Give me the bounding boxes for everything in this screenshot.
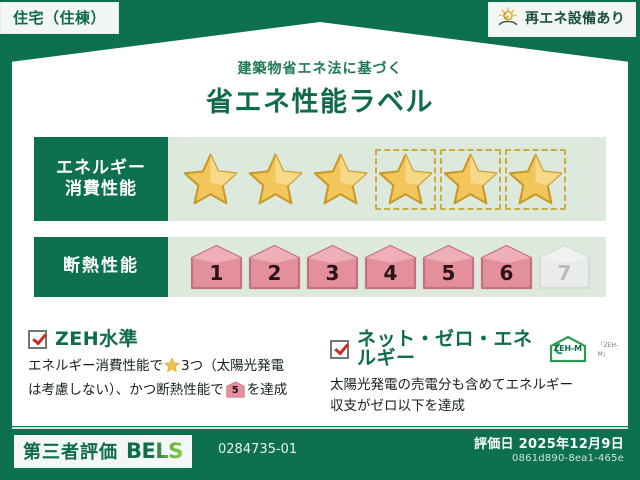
insulation-performance-label-box: 断熱性能 — [34, 237, 168, 297]
renewable-equipment-label: 再エネ設備あり — [525, 12, 625, 26]
insulation-level-2: 2 — [248, 244, 301, 290]
star-5-solar-outline — [440, 149, 501, 210]
insulation-level-track: 1234567 — [168, 237, 606, 297]
evaluation-id: 0861d890-8ea1-465e — [512, 453, 624, 464]
bels-certificate-number: 0284735-01 — [218, 442, 297, 457]
zeh-criterion-header: ZEH水準 — [28, 330, 318, 349]
insulation-performance-row: 断熱性能 1234567 — [34, 237, 606, 297]
net-zero-energy-criterion: ネット・ゼロ・エネルギー ZEH-M 「ZEH-M」 太陽光発電の売電分も含めて… — [330, 330, 622, 417]
zeh-m-house-logo-icon: ZEH-M — [547, 335, 589, 363]
bels-jp-label: 第三者評価 — [23, 438, 118, 464]
star-4 — [377, 151, 434, 208]
evaluation-date: 評価日 2025年12月9日 — [474, 433, 624, 452]
net-zero-criterion-title: ネット・ゼロ・エネルギー — [357, 330, 537, 368]
building-type-badge: 住宅（住棟） — [0, 2, 119, 34]
star-rating-group — [168, 151, 564, 208]
zeh-criterion-body: エネルギー消費性能で3つ（太陽光発電は考慮しない）、かつ断熱性能で5を達成 — [28, 356, 318, 401]
insulation-level-4: 4 — [364, 244, 417, 290]
insulation-level-number: 4 — [384, 261, 398, 290]
zeh-criterion-title: ZEH水準 — [55, 330, 138, 349]
bels-third-party-badge: 第三者評価 BELS — [14, 435, 192, 468]
star-6-solar-outline — [505, 149, 566, 210]
star-2 — [247, 151, 304, 208]
insulation-level-group: 1234567 — [168, 244, 591, 290]
zeh-m-logo-text: ZEH-M — [547, 344, 589, 353]
insulation-level-number: 1 — [210, 261, 224, 290]
energy-label-line1: エネルギー — [56, 158, 146, 179]
energy-star-track — [168, 137, 606, 221]
star-1 — [182, 151, 239, 208]
inline-insulation-badge-number: 5 — [226, 383, 245, 399]
insulation-level-number: 3 — [326, 261, 340, 290]
renewable-equipment-badge: 再エネ設備あり — [488, 2, 636, 37]
star-3 — [312, 151, 369, 208]
insulation-level-7: 7 — [538, 244, 591, 290]
energy-performance-label: 住宅（住棟） 再エネ設備あり 建築物省エネ法に基づく 省エネ性能ラベル 太陽光発… — [0, 0, 640, 480]
insulation-level-3: 3 — [306, 244, 359, 290]
insulation-level-number: 6 — [500, 261, 514, 290]
insulation-level-number: 2 — [268, 261, 282, 290]
star-4-solar-outline — [375, 149, 436, 210]
zeh-body-part3: は考慮しない）、かつ断熱性能で — [28, 382, 224, 398]
label-title: 省エネ性能ラベル — [0, 80, 640, 119]
zeh-body-part2: 3つ（太陽光発電 — [181, 358, 284, 374]
net-zero-body-line2: 収支がゼロ以下を達成 — [330, 398, 465, 414]
energy-label-line2: 消費性能 — [65, 179, 137, 200]
bels-en-label: BELS — [126, 439, 183, 463]
solar-sun-icon — [497, 7, 519, 31]
insulation-level-5: 5 — [422, 244, 475, 290]
footer-divider — [12, 427, 628, 429]
energy-performance-row: エネルギー 消費性能 — [34, 137, 606, 221]
star-icon — [247, 151, 304, 208]
energy-performance-label-box: エネルギー 消費性能 — [34, 137, 168, 221]
star-icon — [312, 151, 369, 208]
net-zero-checkbox-checked-icon — [330, 340, 349, 359]
star-5 — [442, 151, 499, 208]
label-subtitle: 建築物省エネ法に基づく — [0, 58, 640, 78]
zeh-checkbox-checked-icon — [28, 330, 47, 349]
net-zero-criterion-body: 太陽光発電の売電分も含めてエネルギー収支がゼロ以下を達成 — [330, 375, 622, 417]
insulation-level-number: 7 — [558, 261, 572, 290]
star-icon — [182, 151, 239, 208]
star-6 — [507, 151, 564, 208]
zeh-body-part4: を達成 — [247, 382, 288, 398]
zeh-criterion: ZEH水準 エネルギー消費性能で3つ（太陽光発電は考慮しない）、かつ断熱性能で5… — [28, 330, 318, 401]
inline-star-icon — [164, 357, 180, 380]
insulation-level-1: 1 — [190, 244, 243, 290]
insulation-level-number: 5 — [442, 261, 456, 290]
net-zero-body-line1: 太陽光発電の売電分も含めてエネルギー — [330, 377, 573, 393]
zeh-body-part1: エネルギー消費性能で — [28, 358, 163, 374]
zeh-m-logo-caption: 「ZEH-M」 — [598, 340, 622, 358]
net-zero-criterion-header: ネット・ゼロ・エネルギー ZEH-M 「ZEH-M」 — [330, 330, 622, 368]
insulation-label: 断熱性能 — [63, 256, 139, 277]
building-type-label: 住宅（住棟） — [13, 9, 106, 27]
insulation-level-6: 6 — [480, 244, 533, 290]
inline-insulation-badge: 5 — [226, 381, 245, 398]
